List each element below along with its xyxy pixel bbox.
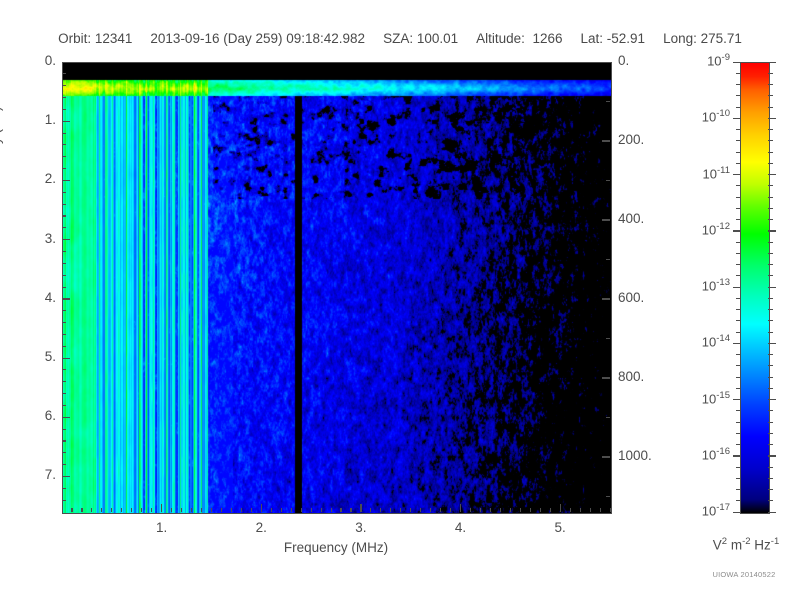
x-tick-major bbox=[261, 504, 262, 512]
colorbar-tick-label: 10-12 bbox=[662, 221, 730, 237]
x-tick-minor bbox=[321, 508, 322, 512]
x-tick-minor bbox=[151, 508, 152, 512]
colorbar-tick-minor-right bbox=[768, 365, 773, 366]
colorbar-tick-minor-right bbox=[768, 107, 773, 108]
x-tick-minor bbox=[121, 508, 122, 512]
colorbar-tick-minor-right bbox=[768, 84, 773, 85]
colorbar-tick-minor-right bbox=[768, 163, 773, 164]
colorbar-tick-label: 10-14 bbox=[662, 333, 730, 349]
x-tick-minor bbox=[301, 508, 302, 512]
colorbar-tick-minor-right bbox=[768, 219, 773, 220]
x-tick-minor bbox=[111, 508, 112, 512]
colorbar-tick-minor-right bbox=[768, 185, 773, 186]
colorbar-tick-minor-left bbox=[736, 185, 741, 186]
colorbar-tick-minor-left bbox=[736, 309, 741, 310]
colorbar-tick-minor-right bbox=[768, 332, 773, 333]
colorbar-tick-minor-right bbox=[768, 354, 773, 355]
x-tick-major bbox=[560, 504, 561, 512]
colorbar-tick-major-left bbox=[733, 174, 741, 175]
y-tick-minor-right bbox=[606, 180, 610, 181]
x-tick-minor bbox=[291, 508, 292, 512]
x-tick-minor bbox=[400, 508, 401, 512]
x-tick-minor bbox=[580, 508, 581, 512]
colorbar-tick-minor-right bbox=[768, 264, 773, 265]
x-tick-minor bbox=[101, 508, 102, 512]
y-tick-label-left: 0. bbox=[0, 53, 56, 68]
y-tick-minor-left bbox=[62, 346, 66, 347]
y-tick-minor-left bbox=[62, 452, 66, 453]
y-tick-major-left bbox=[62, 62, 70, 63]
datetime-field: 2013-09-16 (Day 259) 09:18:42.982 bbox=[150, 31, 365, 46]
x-tick-minor bbox=[211, 508, 212, 512]
x-tick-minor bbox=[540, 508, 541, 512]
altitude-label: Altitude: bbox=[476, 31, 525, 46]
y-tick-major-left bbox=[62, 121, 70, 122]
colorbar-tick-major-left bbox=[733, 62, 741, 63]
colorbar-tick-major-left bbox=[733, 343, 741, 344]
colorbar-tick-minor-right bbox=[768, 410, 773, 411]
y-tick-label-left: 7. bbox=[0, 467, 56, 482]
x-tick-label: 5. bbox=[535, 520, 585, 535]
x-tick-minor bbox=[530, 508, 531, 512]
colorbar-tick-minor-right bbox=[768, 377, 773, 378]
y-tick-minor-left bbox=[62, 429, 66, 430]
y-tick-major-left bbox=[62, 298, 70, 299]
colorbar-tick-minor-right bbox=[768, 433, 773, 434]
x-tick-minor bbox=[71, 508, 72, 512]
colorbar-tick-label: 10-13 bbox=[662, 277, 730, 293]
altitude-field: Altitude: 1266 bbox=[476, 31, 562, 46]
x-tick-minor bbox=[181, 508, 182, 512]
colorbar-tick-minor-left bbox=[736, 298, 741, 299]
colorbar-tick-major-right bbox=[768, 455, 776, 456]
y-tick-major-left bbox=[62, 358, 70, 359]
colorbar-tick-label: 10-10 bbox=[662, 108, 730, 124]
colorbar-tick-minor-left bbox=[736, 354, 741, 355]
colorbar-tick-minor-left bbox=[736, 84, 741, 85]
long-value: 275.71 bbox=[701, 31, 742, 46]
orbit-label: Orbit: bbox=[58, 31, 91, 46]
orbit-value: 12341 bbox=[95, 31, 133, 46]
colorbar-tick-major-left bbox=[733, 287, 741, 288]
header-metadata-bar: Orbit: 12341 2013-09-16 (Day 259) 09:18:… bbox=[0, 28, 800, 48]
orbit-field: Orbit: 12341 bbox=[58, 31, 132, 46]
y-tick-major-right bbox=[602, 140, 610, 141]
colorbar-tick-minor-left bbox=[736, 433, 741, 434]
y-tick-label-right: 800. bbox=[618, 369, 688, 384]
y-tick-minor-left bbox=[62, 204, 66, 205]
footer-credit: UIOWA 20140522 bbox=[694, 570, 794, 579]
x-tick-label: 1. bbox=[137, 520, 187, 535]
x-tick-minor bbox=[201, 508, 202, 512]
y-tick-minor-left bbox=[62, 287, 66, 288]
lat-field: Lat: -52.91 bbox=[580, 31, 645, 46]
y-tick-minor-left bbox=[62, 144, 66, 145]
x-tick-minor bbox=[281, 508, 282, 512]
y-tick-minor-left bbox=[62, 369, 66, 370]
colorbar-tick-major-right bbox=[768, 118, 776, 119]
colorbar-tick-minor-right bbox=[768, 140, 773, 141]
colorbar-tick-major-right bbox=[768, 399, 776, 400]
y-tick-major-right bbox=[602, 377, 610, 378]
colorbar-tick-major-right bbox=[768, 62, 776, 63]
colorbar-tick-minor-right bbox=[768, 197, 773, 198]
sza-label: SZA: bbox=[383, 31, 413, 46]
sza-value: 100.01 bbox=[417, 31, 458, 46]
colorbar-tick-major-right bbox=[768, 287, 776, 288]
colorbar-tick-major-right bbox=[768, 230, 776, 231]
x-tick-minor bbox=[430, 508, 431, 512]
colorbar-tick-minor-left bbox=[736, 129, 741, 130]
colorbar-tick-minor-right bbox=[768, 129, 773, 130]
x-tick-minor bbox=[331, 508, 332, 512]
x-tick-minor bbox=[271, 508, 272, 512]
x-tick-minor bbox=[231, 508, 232, 512]
colorbar-tick-minor-right bbox=[768, 152, 773, 153]
colorbar-tick-label: 10-16 bbox=[662, 446, 730, 462]
x-tick-minor bbox=[380, 508, 381, 512]
colorbar-tick-minor-right bbox=[768, 444, 773, 445]
x-tick-label: 2. bbox=[236, 520, 286, 535]
y-tick-major-right bbox=[602, 298, 610, 299]
x-tick-minor bbox=[171, 508, 172, 512]
colorbar-tick-minor-left bbox=[736, 365, 741, 366]
x-tick-minor bbox=[570, 508, 571, 512]
y-tick-label-left: 6. bbox=[0, 408, 56, 423]
y-tick-minor-left bbox=[62, 263, 66, 264]
y-tick-minor-right bbox=[606, 338, 610, 339]
x-tick-minor bbox=[410, 508, 411, 512]
x-tick-minor bbox=[390, 508, 391, 512]
colorbar-tick-minor-left bbox=[736, 275, 741, 276]
colorbar-tick-major-left bbox=[733, 399, 741, 400]
y-tick-minor-left bbox=[62, 73, 66, 74]
colorbar-tick-minor-left bbox=[736, 264, 741, 265]
spectrogram-heatmap bbox=[63, 63, 611, 513]
colorbar-gradient bbox=[740, 62, 770, 514]
colorbar-tick-minor-right bbox=[768, 95, 773, 96]
colorbar-tick-minor-right bbox=[768, 388, 773, 389]
y-tick-label-left: 4. bbox=[0, 290, 56, 305]
x-tick-minor bbox=[480, 508, 481, 512]
x-tick-major bbox=[161, 504, 162, 512]
y-tick-minor-left bbox=[62, 156, 66, 157]
colorbar-tick-minor-left bbox=[736, 197, 741, 198]
colorbar-tick-label: 10-17 bbox=[662, 502, 730, 518]
x-tick-minor bbox=[550, 508, 551, 512]
colorbar-tick-minor-left bbox=[736, 489, 741, 490]
colorbar-tick-minor-right bbox=[768, 242, 773, 243]
colorbar-tick-minor-right bbox=[768, 253, 773, 254]
x-tick-minor bbox=[191, 508, 192, 512]
x-tick-minor bbox=[340, 508, 341, 512]
colorbar-tick-minor-left bbox=[736, 320, 741, 321]
colorbar-tick-minor-right bbox=[768, 208, 773, 209]
y-tick-minor-left bbox=[62, 322, 66, 323]
y-tick-major-right bbox=[602, 62, 610, 63]
colorbar-tick-label: 10-9 bbox=[662, 52, 730, 68]
colorbar-unit-label: V2 m-2 Hz-1 bbox=[694, 536, 798, 553]
y-tick-minor-left bbox=[62, 85, 66, 86]
lat-label: Lat: bbox=[580, 31, 603, 46]
long-field: Long: 275.71 bbox=[663, 31, 742, 46]
x-tick-minor bbox=[470, 508, 471, 512]
colorbar-tick-minor-left bbox=[736, 444, 741, 445]
colorbar-tick-minor-right bbox=[768, 320, 773, 321]
x-tick-minor bbox=[91, 508, 92, 512]
colorbar-tick-minor-left bbox=[736, 242, 741, 243]
colorbar-tick-minor-left bbox=[736, 152, 741, 153]
colorbar-tick-minor-right bbox=[768, 275, 773, 276]
x-tick-minor bbox=[440, 508, 441, 512]
colorbar-tick-minor-right bbox=[768, 73, 773, 74]
colorbar-tick-minor-right bbox=[768, 422, 773, 423]
colorbar-tick-minor-left bbox=[736, 219, 741, 220]
colorbar-tick-minor-left bbox=[736, 95, 741, 96]
colorbar-tick-minor-left bbox=[736, 208, 741, 209]
colorbar-tick-minor-left bbox=[736, 422, 741, 423]
x-tick-minor bbox=[311, 508, 312, 512]
x-tick-minor bbox=[131, 508, 132, 512]
y-tick-minor-left bbox=[62, 168, 66, 169]
colorbar-tick-minor-left bbox=[736, 410, 741, 411]
y-tick-minor-left bbox=[62, 405, 66, 406]
y-tick-label-right: 200. bbox=[618, 132, 688, 147]
y-tick-label-left: 1. bbox=[0, 112, 56, 127]
colorbar-tick-major-right bbox=[768, 174, 776, 175]
colorbar-tick-label: 10-15 bbox=[662, 390, 730, 406]
altitude-value: 1266 bbox=[532, 31, 562, 46]
y-tick-minor-left bbox=[62, 275, 66, 276]
x-tick-minor bbox=[141, 508, 142, 512]
x-tick-minor bbox=[500, 508, 501, 512]
colorbar-tick-minor-right bbox=[768, 467, 773, 468]
y-tick-minor-left bbox=[62, 310, 66, 311]
x-tick-minor bbox=[610, 508, 611, 512]
colorbar-tick-major-left bbox=[733, 230, 741, 231]
y-tick-major-left bbox=[62, 239, 70, 240]
x-tick-minor bbox=[81, 508, 82, 512]
colorbar-tick-minor-left bbox=[736, 332, 741, 333]
y-tick-minor-left bbox=[62, 227, 66, 228]
colorbar-tick-label: 10-11 bbox=[662, 165, 730, 181]
colorbar-tick-major-left bbox=[733, 512, 741, 513]
y-tick-label-left: 5. bbox=[0, 349, 56, 364]
y-tick-minor-right bbox=[606, 417, 610, 418]
colorbar-tick-minor-left bbox=[736, 478, 741, 479]
colorbar-tick-minor-left bbox=[736, 163, 741, 164]
y-tick-major-left bbox=[62, 180, 70, 181]
x-tick-minor bbox=[450, 508, 451, 512]
x-tick-minor bbox=[590, 508, 591, 512]
colorbar-tick-minor-right bbox=[768, 478, 773, 479]
x-tick-minor bbox=[520, 508, 521, 512]
y-tick-minor-left bbox=[62, 334, 66, 335]
y-tick-minor-left bbox=[62, 393, 66, 394]
y-tick-minor-left bbox=[62, 215, 66, 216]
colorbar-tick-minor-left bbox=[736, 500, 741, 501]
colorbar-tick-minor-left bbox=[736, 467, 741, 468]
lat-value: -52.91 bbox=[607, 31, 645, 46]
long-label: Long: bbox=[663, 31, 697, 46]
colorbar-tick-minor-right bbox=[768, 298, 773, 299]
x-tick-minor bbox=[420, 508, 421, 512]
x-tick-minor bbox=[370, 508, 371, 512]
y-tick-label-left: 3. bbox=[0, 231, 56, 246]
x-axis-label: Frequency (MHz) bbox=[0, 540, 672, 555]
colorbar-tick-minor-left bbox=[736, 388, 741, 389]
colorbar-tick-minor-left bbox=[736, 107, 741, 108]
x-tick-minor bbox=[510, 508, 511, 512]
x-tick-minor bbox=[221, 508, 222, 512]
x-tick-minor bbox=[350, 508, 351, 512]
ionogram-page: Orbit: 12341 2013-09-16 (Day 259) 09:18:… bbox=[0, 0, 800, 600]
x-tick-major bbox=[360, 504, 361, 512]
y-tick-minor-left bbox=[62, 500, 66, 501]
y-tick-minor-left bbox=[62, 109, 66, 110]
y-tick-minor-left bbox=[62, 464, 66, 465]
y-tick-minor-right bbox=[606, 101, 610, 102]
x-tick-minor bbox=[251, 508, 252, 512]
y-tick-major-right bbox=[602, 219, 610, 220]
colorbar-tick-minor-right bbox=[768, 309, 773, 310]
colorbar-tick-minor-right bbox=[768, 500, 773, 501]
y-tick-minor-left bbox=[62, 440, 66, 441]
y-tick-major-left bbox=[62, 476, 70, 477]
y-tick-minor-left bbox=[62, 133, 66, 134]
y-tick-label-left: 2. bbox=[0, 171, 56, 186]
ionogram-plot-area bbox=[62, 62, 612, 514]
y-tick-minor-left bbox=[62, 97, 66, 98]
y-tick-minor-left bbox=[62, 381, 66, 382]
sza-field: SZA: 100.01 bbox=[383, 31, 458, 46]
colorbar-tick-minor-right bbox=[768, 489, 773, 490]
colorbar-tick-major-right bbox=[768, 512, 776, 513]
x-tick-minor bbox=[241, 508, 242, 512]
colorbar-tick-major-left bbox=[733, 118, 741, 119]
y-tick-minor-left bbox=[62, 251, 66, 252]
x-tick-label: 3. bbox=[336, 520, 386, 535]
colorbar-tick-major-right bbox=[768, 343, 776, 344]
colorbar-tick-minor-left bbox=[736, 140, 741, 141]
x-tick-minor bbox=[490, 508, 491, 512]
y-axis-label-left: Time Delay (ms) bbox=[0, 45, 3, 205]
y-tick-minor-left bbox=[62, 192, 66, 193]
colorbar-tick-minor-left bbox=[736, 377, 741, 378]
x-tick-minor bbox=[600, 508, 601, 512]
y-tick-minor-right bbox=[606, 259, 610, 260]
y-tick-major-right bbox=[602, 456, 610, 457]
colorbar-tick-major-left bbox=[733, 455, 741, 456]
y-tick-major-left bbox=[62, 417, 70, 418]
x-tick-label: 4. bbox=[436, 520, 486, 535]
y-tick-minor-left bbox=[62, 488, 66, 489]
y-tick-minor-right bbox=[606, 496, 610, 497]
x-tick-major bbox=[460, 504, 461, 512]
colorbar-tick-minor-left bbox=[736, 253, 741, 254]
colorbar-tick-minor-left bbox=[736, 73, 741, 74]
